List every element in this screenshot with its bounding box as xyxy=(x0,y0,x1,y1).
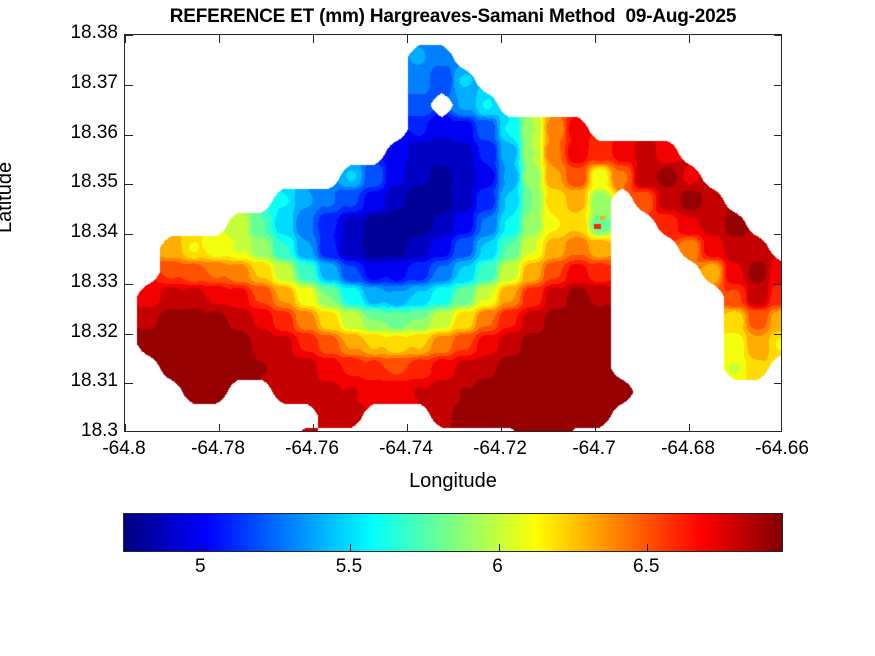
x-tick-label: -64.76 xyxy=(285,438,339,460)
x-tick-mark xyxy=(313,424,314,432)
x-tick-mark xyxy=(219,424,220,432)
y-tick-label: 18.33 xyxy=(0,271,118,293)
x-tick-mark xyxy=(689,35,690,43)
x-tick-label: -64.74 xyxy=(379,438,433,460)
y-tick-mark xyxy=(125,284,133,285)
y-tick-label: 18.35 xyxy=(0,171,118,193)
colorbar-tick-mark xyxy=(647,544,648,551)
y-tick-mark xyxy=(125,234,133,235)
x-tick-mark xyxy=(125,35,126,43)
matlab-figure: REFERENCE ET (mm) Hargreaves-Samani Meth… xyxy=(0,0,875,656)
x-tick-mark xyxy=(501,35,502,43)
y-tick-label: 18.37 xyxy=(0,72,118,94)
colorbar xyxy=(123,513,783,552)
y-tick-label: 18.31 xyxy=(0,370,118,392)
y-tick-mark xyxy=(125,135,133,136)
y-tick-mark xyxy=(774,234,782,235)
colorbar-tick-mark xyxy=(350,544,351,551)
y-tick-label: 18.32 xyxy=(0,321,118,343)
y-tick-mark xyxy=(774,284,782,285)
y-axis-label: Latitude xyxy=(0,162,17,233)
x-tick-mark xyxy=(219,35,220,43)
x-tick-label: -64.72 xyxy=(473,438,527,460)
colorbar-tick-label: 6.5 xyxy=(633,556,659,578)
y-tick-mark xyxy=(125,383,133,384)
y-tick-mark xyxy=(125,334,133,335)
y-tick-mark xyxy=(774,334,782,335)
y-tick-label: 18.36 xyxy=(0,122,118,144)
x-tick-mark xyxy=(501,424,502,432)
x-tick-mark xyxy=(595,424,596,432)
y-tick-mark xyxy=(125,184,133,185)
y-tick-label: 18.38 xyxy=(0,22,118,44)
x-tick-mark xyxy=(595,35,596,43)
y-tick-label: 18.34 xyxy=(0,221,118,243)
x-tick-mark xyxy=(407,424,408,432)
y-tick-mark xyxy=(774,85,782,86)
colorbar-tick-label: 5.5 xyxy=(336,556,362,578)
y-tick-label: 18.3 xyxy=(0,420,118,442)
colorbar-tick-mark xyxy=(499,544,500,551)
x-tick-label: -64.68 xyxy=(661,438,715,460)
chart-title: REFERENCE ET (mm) Hargreaves-Samani Meth… xyxy=(124,6,782,28)
colorbar-gradient xyxy=(124,514,783,552)
colorbar-tick-mark xyxy=(201,544,202,551)
plot-axes xyxy=(124,34,782,432)
x-tick-mark xyxy=(689,424,690,432)
x-tick-label: -64.78 xyxy=(191,438,245,460)
colorbar-tick-label: 6 xyxy=(492,556,503,578)
x-axis-label: Longitude xyxy=(124,470,782,493)
x-tick-mark xyxy=(407,35,408,43)
y-tick-mark xyxy=(774,35,782,36)
y-tick-mark xyxy=(774,135,782,136)
x-tick-label: -64.8 xyxy=(102,438,145,460)
colorbar-tick-label: 5 xyxy=(195,556,206,578)
y-tick-mark xyxy=(774,184,782,185)
x-tick-mark xyxy=(125,424,126,432)
x-tick-label: -64.7 xyxy=(572,438,615,460)
y-tick-mark xyxy=(125,85,133,86)
y-tick-mark xyxy=(774,383,782,384)
et-contour-map xyxy=(125,35,782,432)
x-tick-label: -64.66 xyxy=(755,438,809,460)
x-tick-mark xyxy=(313,35,314,43)
